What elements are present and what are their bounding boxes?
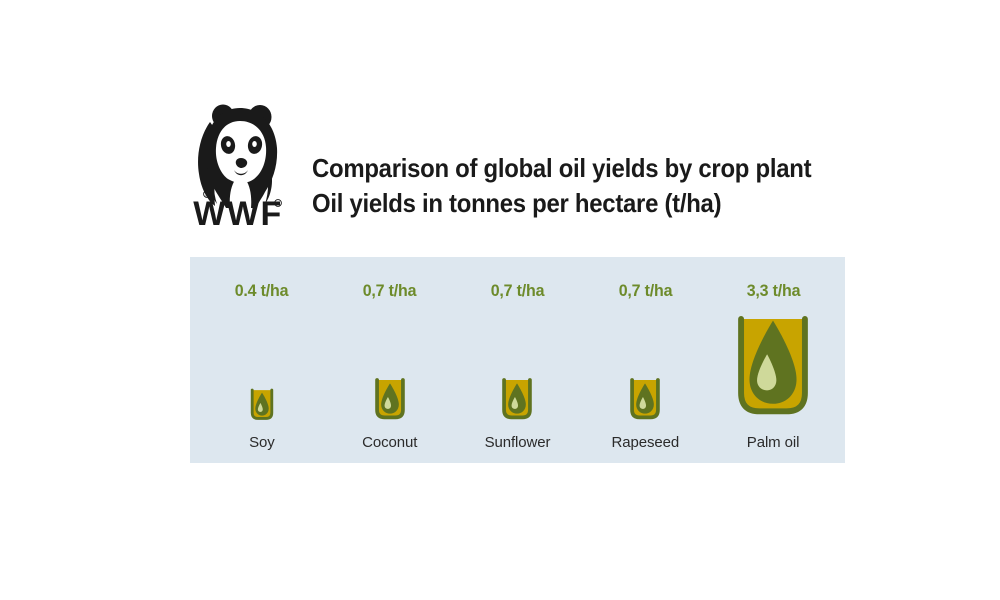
crop-label-sunflower: Sunflower	[454, 434, 582, 451]
oil-beaker-icon-coconut	[373, 377, 407, 421]
chart-panel: 0.4 t/ha Soy 0,7 t/ha	[190, 257, 845, 463]
oil-beaker-icon-sunflower	[500, 377, 534, 421]
oil-beaker-icon-palm-oil	[731, 311, 815, 421]
oil-beaker-icon-soy	[249, 388, 275, 421]
crop-label-rapeseed: Rapeseed	[581, 434, 709, 451]
oil-beaker-icon-rapeseed	[628, 377, 662, 421]
wwf-wordmark-text: WWF	[193, 195, 282, 228]
svg-text:R: R	[276, 201, 279, 206]
crop-label-coconut: Coconut	[326, 434, 454, 451]
icon-area-soy	[198, 301, 326, 421]
icon-area-sunflower	[454, 301, 582, 421]
chart-column-sunflower: 0,7 t/ha Sunflower	[454, 257, 582, 463]
value-label-palm-oil: 3,3 t/ha	[746, 281, 800, 301]
value-label-sunflower: 0,7 t/ha	[491, 281, 545, 301]
value-label-rapeseed: 0,7 t/ha	[619, 281, 673, 301]
icon-area-palm-oil	[709, 301, 837, 421]
infographic-root: R WWF R Comparison of global oil yields …	[0, 0, 1000, 600]
header: R WWF R Comparison of global oil yields …	[190, 96, 855, 228]
value-label-coconut: 0,7 t/ha	[363, 281, 417, 301]
page-subtitle: Oil yields in tonnes per hectare (t/ha)	[312, 186, 811, 220]
chart-column-rapeseed: 0,7 t/ha Rapeseed	[581, 257, 709, 463]
value-label-soy: 0.4 t/ha	[235, 281, 289, 301]
icon-area-rapeseed	[581, 301, 709, 421]
icon-area-coconut	[326, 301, 454, 421]
title-block: Comparison of global oil yields by crop …	[312, 151, 855, 228]
chart-column-soy: 0.4 t/ha Soy	[198, 257, 326, 463]
wwf-wordmark-letters: WWF R	[193, 195, 282, 228]
crop-label-soy: Soy	[198, 434, 326, 451]
wwf-panda-logo: R WWF R	[190, 96, 286, 228]
chart-column-palm-oil: 3,3 t/ha Palm oil	[709, 257, 837, 463]
page-title: Comparison of global oil yields by crop …	[312, 151, 811, 185]
chart-columns: 0.4 t/ha Soy 0,7 t/ha	[190, 257, 845, 463]
crop-label-palm-oil: Palm oil	[709, 434, 837, 451]
chart-column-coconut: 0,7 t/ha Coconut	[326, 257, 454, 463]
